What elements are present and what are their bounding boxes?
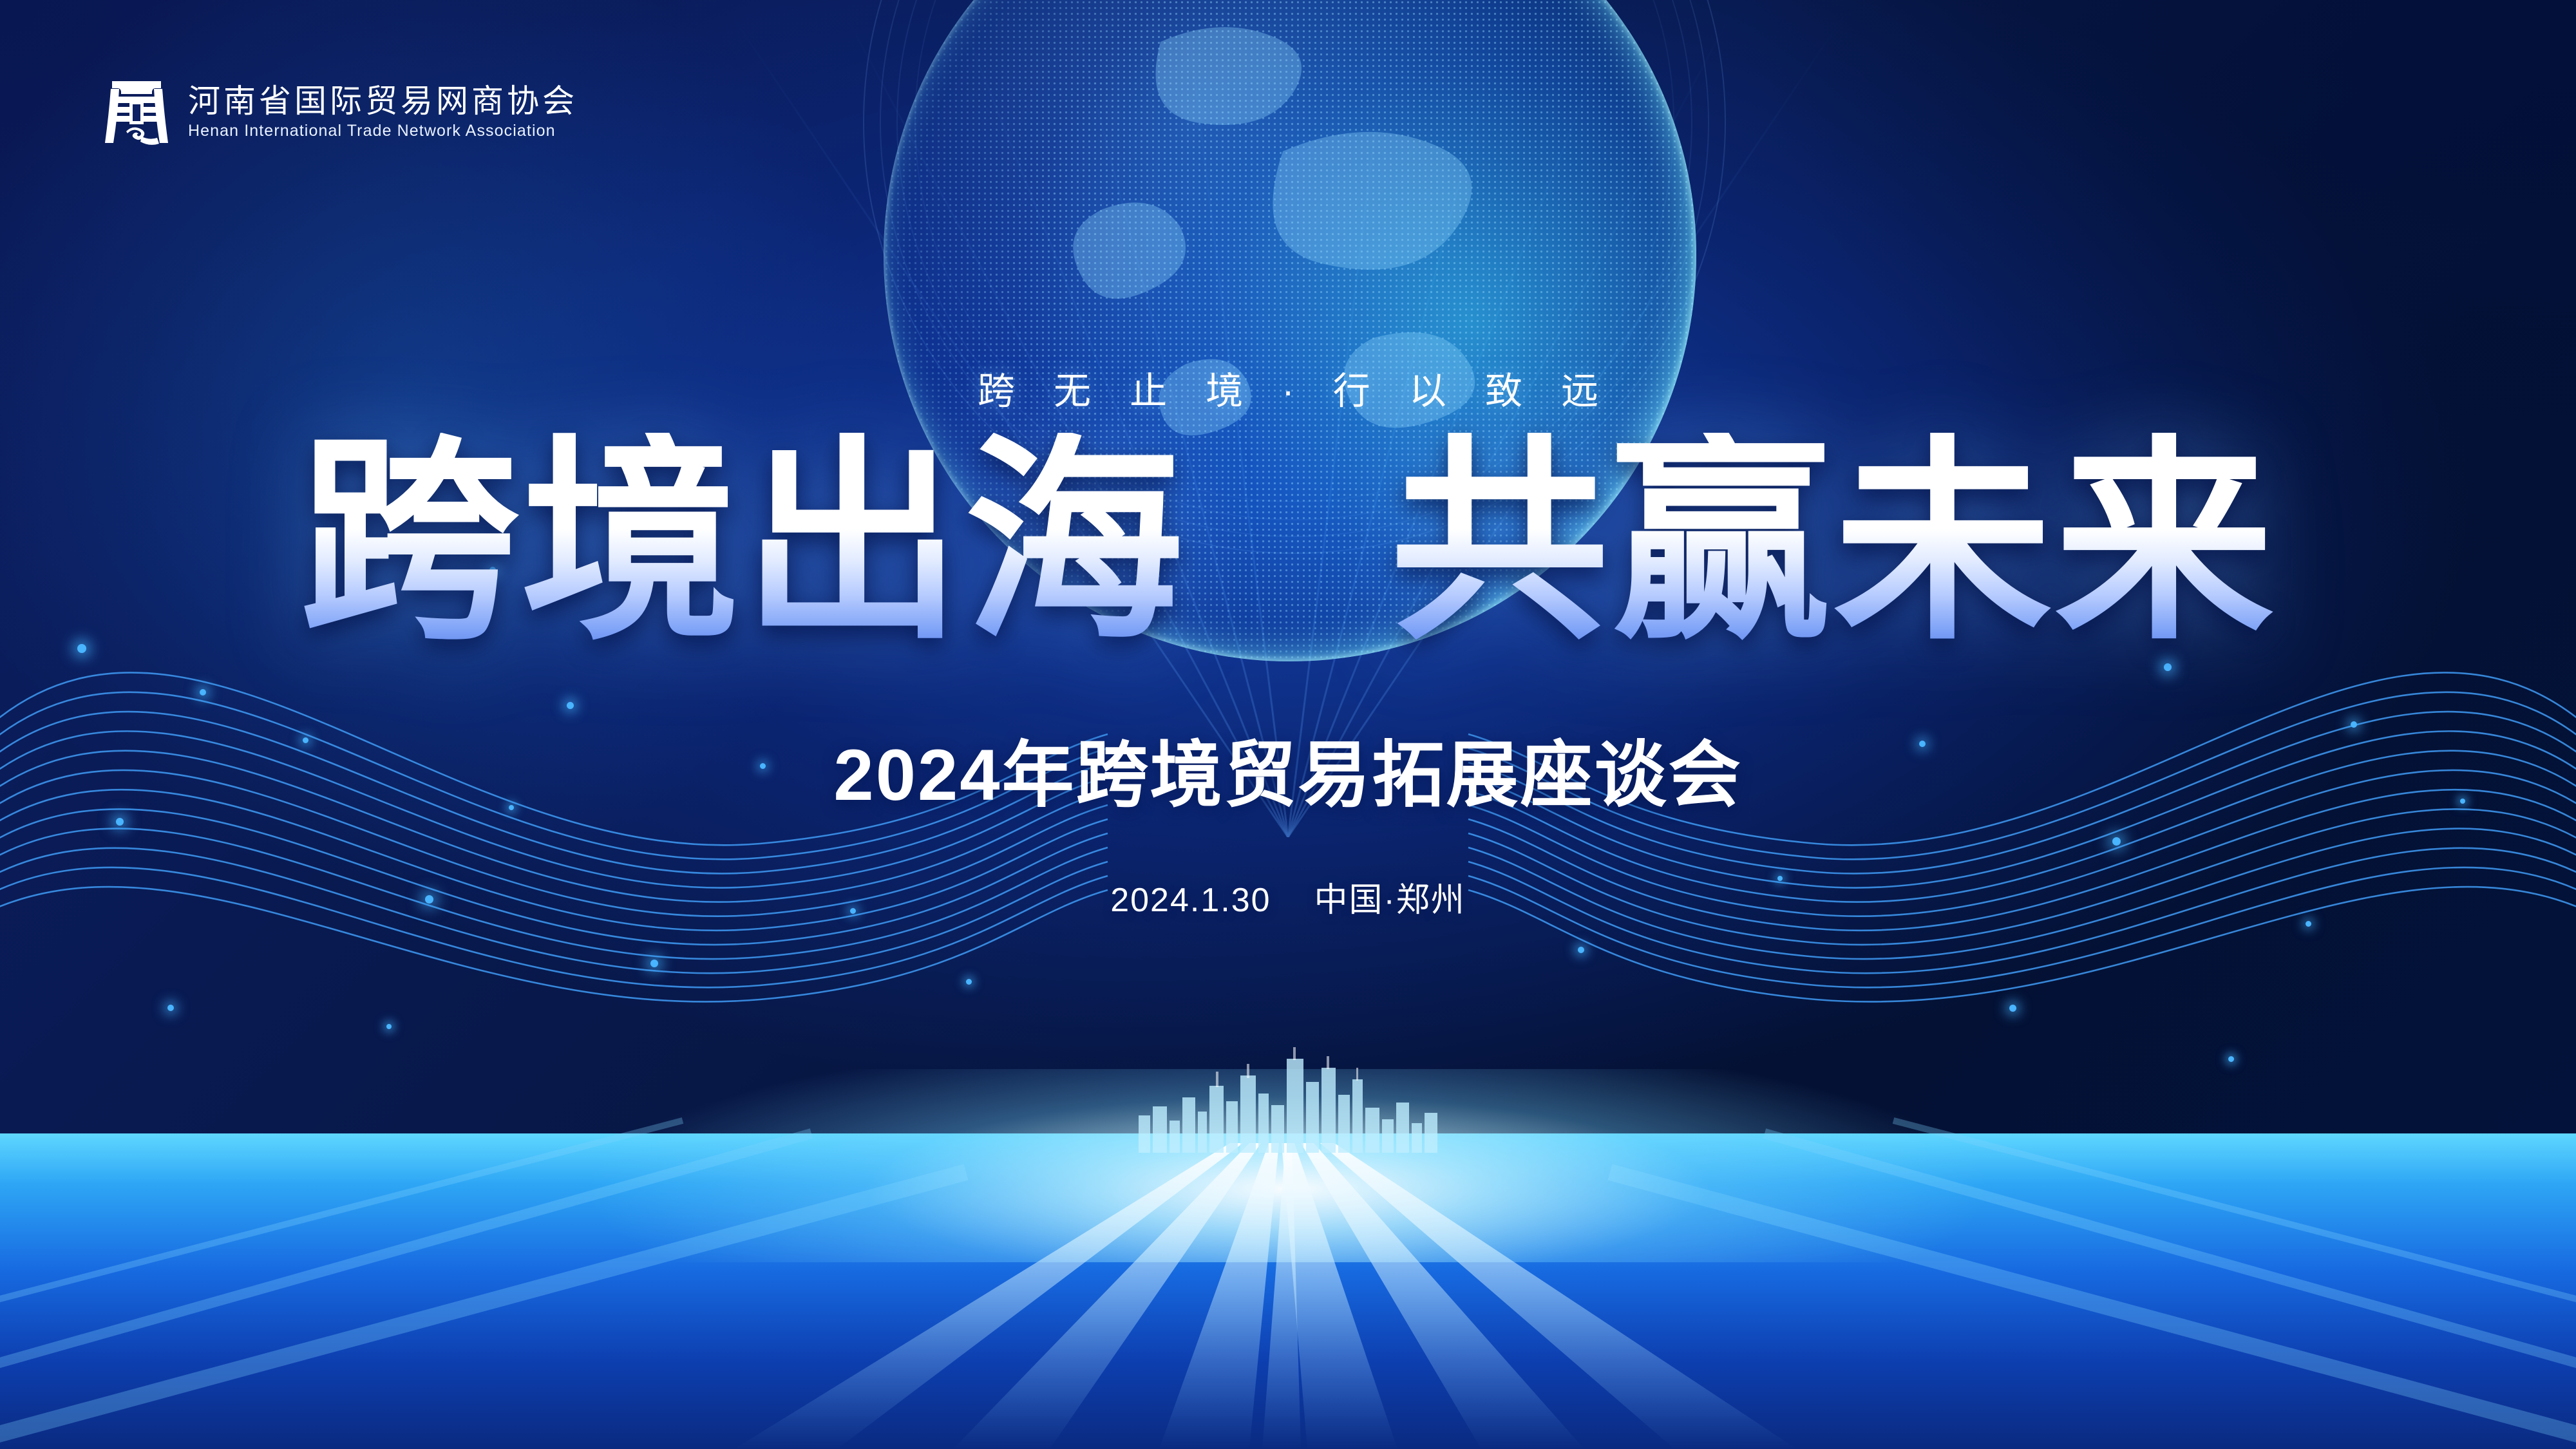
hero-subtitle: 2024年跨境贸易拓展座谈会 [0,739,2576,811]
logo-org-name-cn: 河南省国际贸易网商协会 [188,84,578,118]
headline-part-2: 共赢未来 [1390,433,2276,652]
henan-seal-商-icon [103,77,170,147]
association-logo[interactable]: 河南省国际贸易网商协会 Henan International Trade Ne… [103,77,578,147]
hero-headline: 跨境出海 共赢未来 [0,433,2576,652]
logo-org-name-en: Henan International Trade Network Associ… [188,122,578,140]
event-location: 中国·郑州 [1314,882,1465,919]
glowing-particles-icon [0,0,2576,1449]
headline-part-1: 跨境出海 [300,433,1186,652]
event-date: 2024.1.30 [1110,882,1271,919]
event-poster: 河南省国际贸易网商协会 Henan International Trade Ne… [0,0,2576,1449]
hero-tagline: 跨 无 止 境 · 行 以 致 远 [0,361,2576,415]
event-dateline: 2024.1.30 中国·郑州 [0,873,2576,921]
